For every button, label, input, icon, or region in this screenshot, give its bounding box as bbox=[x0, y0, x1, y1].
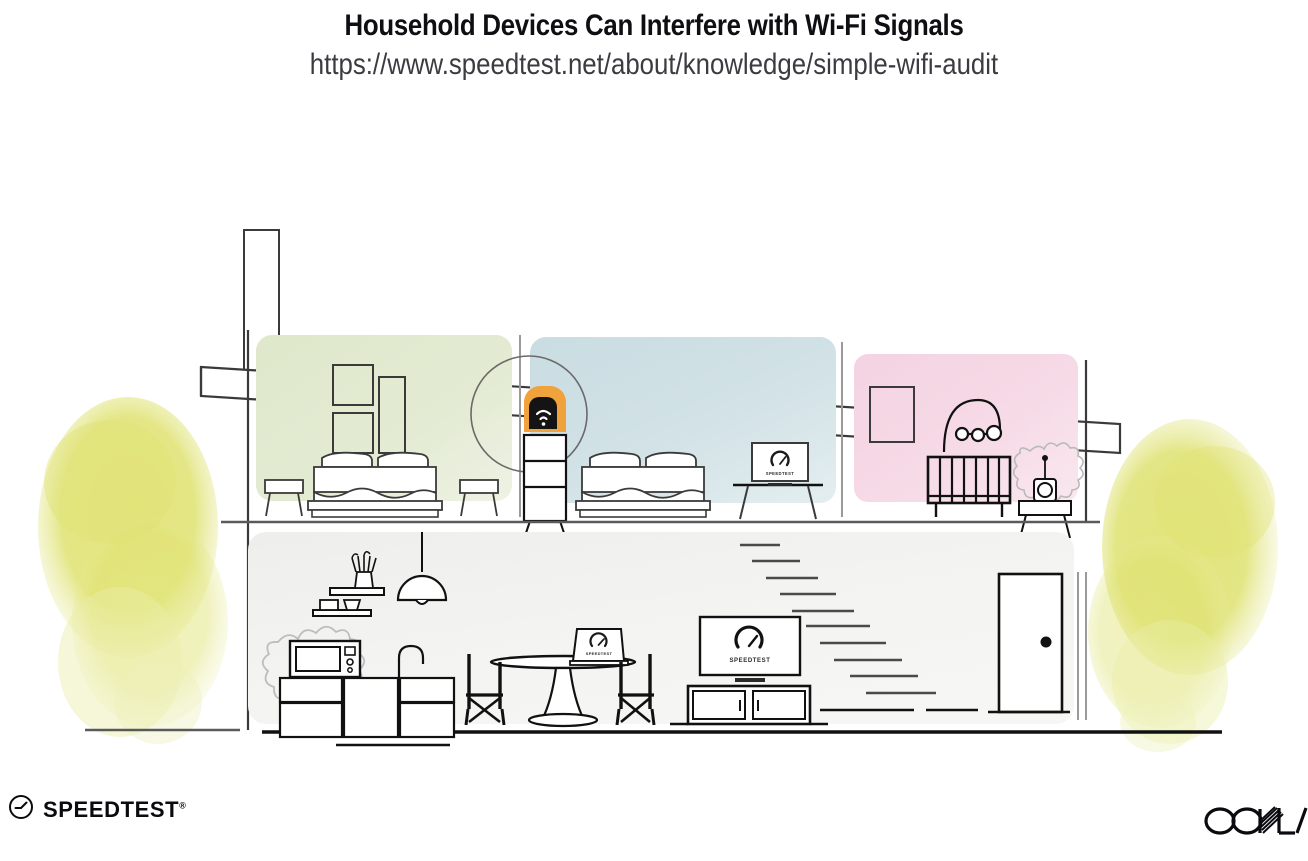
living-room-tv: SPEEDTEST bbox=[700, 617, 800, 682]
registered-trademark: ® bbox=[179, 800, 186, 810]
svg-text:SPEEDTEST: SPEEDTEST bbox=[729, 658, 770, 664]
svg-text:SPEEDTEST: SPEEDTEST bbox=[586, 651, 613, 656]
exterior-wall-right-lower bbox=[1078, 572, 1086, 720]
ookla-wordmark bbox=[1203, 814, 1308, 847]
nursery-pink bbox=[854, 354, 1083, 538]
ookla-logo[interactable] bbox=[1203, 800, 1308, 848]
speedtest-wordmark: SPEEDTEST® bbox=[43, 797, 186, 823]
door-knob-icon[interactable] bbox=[1041, 637, 1052, 648]
desktop-monitor: SPEEDTEST bbox=[752, 443, 808, 486]
speedtest-logo[interactable]: SPEEDTEST® bbox=[8, 794, 186, 825]
header: Household Devices Can Interfere with Wi-… bbox=[0, 0, 1308, 82]
shelf-unit bbox=[524, 435, 566, 539]
infographic-page: Household Devices Can Interfere with Wi-… bbox=[0, 0, 1308, 861]
speedtest-gauge-icon bbox=[8, 794, 34, 825]
svg-text:SPEEDTEST: SPEEDTEST bbox=[766, 471, 795, 476]
source-url: https://www.speedtest.net/about/knowledg… bbox=[92, 48, 1217, 82]
footer: SPEEDTEST® bbox=[0, 780, 1308, 861]
laptop: SPEEDTEST bbox=[570, 629, 628, 665]
house-illustration: SPEEDTEST bbox=[0, 102, 1308, 752]
bedroom-blue: SPEEDTEST bbox=[530, 337, 836, 519]
page-title: Household Devices Can Interfere with Wi-… bbox=[92, 9, 1217, 43]
media-console bbox=[670, 686, 828, 724]
ground-lines bbox=[85, 730, 1222, 732]
front-door[interactable] bbox=[988, 574, 1070, 712]
bedroom-green bbox=[256, 335, 512, 517]
wifi-router[interactable] bbox=[524, 386, 566, 432]
foliage-left bbox=[38, 397, 228, 744]
foliage-right bbox=[1088, 419, 1278, 752]
